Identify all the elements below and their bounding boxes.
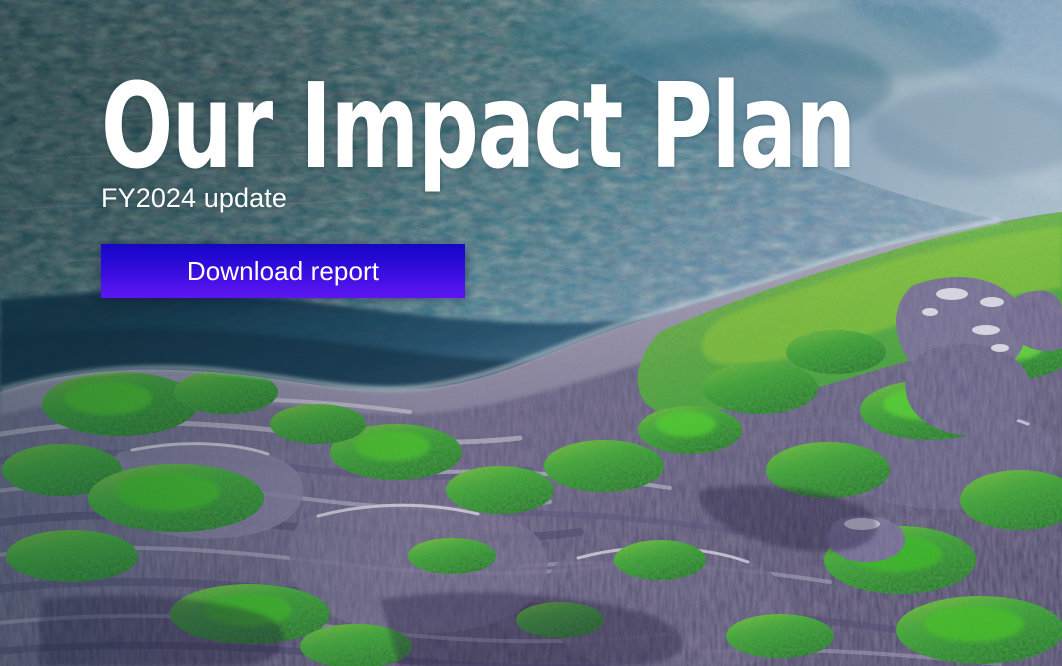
hero-content: Our Impact Plan FY2024 update Download r… <box>101 78 781 298</box>
download-report-button[interactable]: Download report <box>101 244 465 298</box>
page-title: Our Impact Plan <box>101 78 645 175</box>
hero-banner: Our Impact Plan FY2024 update Download r… <box>0 0 1062 666</box>
